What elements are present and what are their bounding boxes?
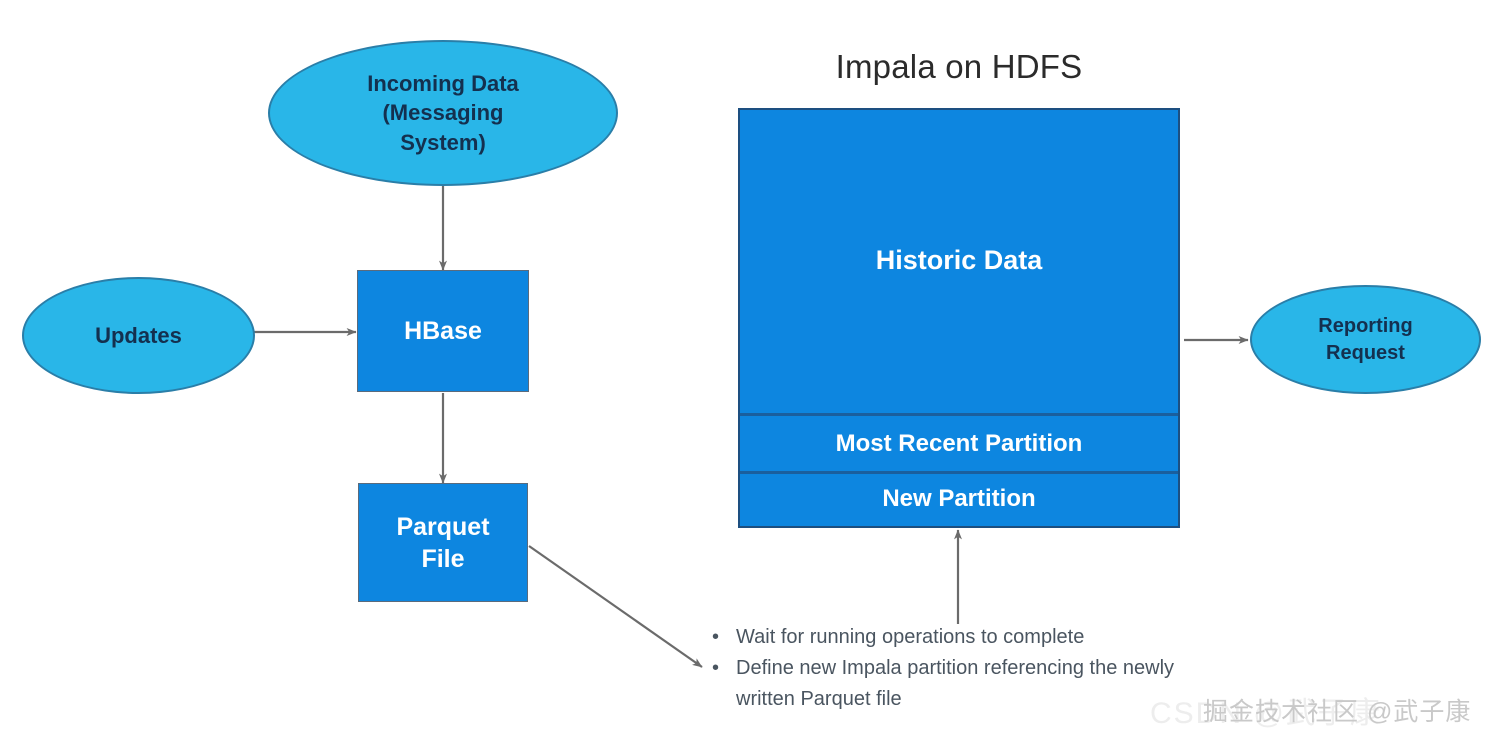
bullet-icon: • — [712, 653, 736, 684]
node-incoming-data[interactable]: Incoming Data (Messaging System) — [268, 40, 618, 186]
list-item-text: Wait for running operations to complete — [736, 622, 1212, 653]
list-item: • Wait for running operations to complet… — [712, 622, 1212, 653]
node-hbase[interactable]: HBase — [357, 270, 529, 392]
incoming-line-1: Incoming Data — [367, 69, 519, 98]
notes-list: • Wait for running operations to complet… — [712, 622, 1212, 715]
list-item: • Define new Impala partition referencin… — [712, 653, 1212, 715]
diagram-canvas: Incoming Data (Messaging System) Updates… — [0, 0, 1500, 744]
impala-panel-title: Impala on HDFS — [738, 48, 1180, 86]
impala-panel[interactable]: Historic Data Most Recent Partition New … — [738, 108, 1180, 528]
node-updates[interactable]: Updates — [22, 277, 255, 394]
node-reporting-request-label: Reporting Request — [1318, 313, 1412, 366]
bullet-icon: • — [712, 622, 736, 653]
node-hbase-label: HBase — [404, 315, 482, 347]
arrow-parquet-to-notes — [529, 546, 702, 667]
node-parquet-file[interactable]: Parquet File — [358, 483, 528, 602]
segment-new-partition-label: New Partition — [882, 485, 1035, 513]
incoming-line-3: System) — [367, 128, 519, 157]
list-item-text: Define new Impala partition referencing … — [736, 653, 1212, 715]
parquet-line-1: Parquet — [396, 511, 489, 543]
segment-most-recent-partition-label: Most Recent Partition — [836, 430, 1083, 458]
node-incoming-data-label: Incoming Data (Messaging System) — [367, 69, 519, 156]
incoming-line-2: (Messaging — [367, 98, 519, 127]
node-updates-label: Updates — [95, 321, 182, 350]
node-parquet-file-label: Parquet File — [396, 511, 489, 575]
watermark-juejin: 掘金技术社区 @武子康 — [1203, 692, 1471, 728]
segment-historic-data[interactable]: Historic Data — [740, 110, 1178, 411]
reporting-line-2: Request — [1318, 340, 1412, 366]
segment-new-partition[interactable]: New Partition — [740, 471, 1178, 526]
reporting-line-1: Reporting — [1318, 313, 1412, 339]
segment-historic-data-label: Historic Data — [876, 245, 1043, 276]
parquet-line-2: File — [396, 543, 489, 575]
node-reporting-request[interactable]: Reporting Request — [1250, 285, 1481, 394]
segment-most-recent-partition[interactable]: Most Recent Partition — [740, 413, 1178, 474]
